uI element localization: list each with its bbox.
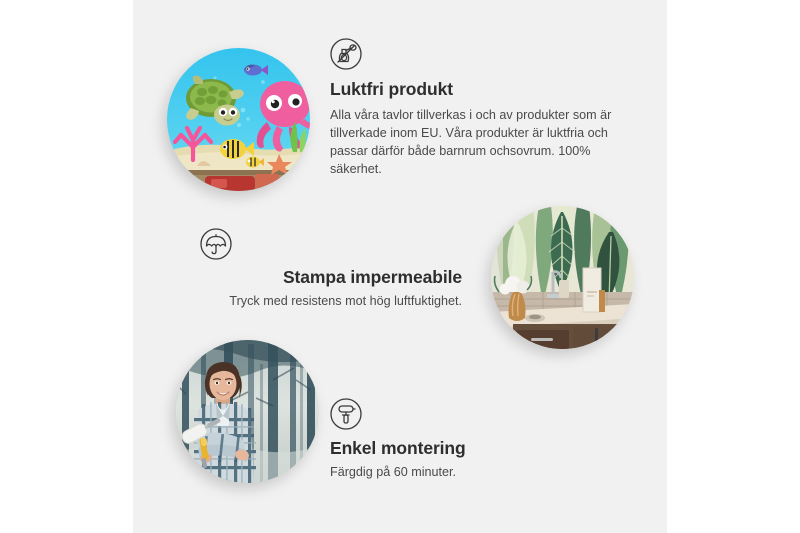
feature-title: Luktfri produkt <box>330 79 630 101</box>
feature-block-odorless: Luktfri produkt Alla våra tavlor tillver… <box>330 38 630 178</box>
feature-title: Enkel montering <box>330 438 590 460</box>
feature-body: Tryck med resistens mot hög luftfuktighe… <box>200 293 462 311</box>
photo-bathroom-tropical <box>491 206 634 349</box>
photo-painter-forest <box>176 340 319 483</box>
feature-title: Stampa impermeabile <box>200 267 462 289</box>
feature-block-easy-install: Enkel montering Färgdig på 60 minuter. <box>330 398 590 482</box>
paint-roller-icon <box>330 398 590 430</box>
photo-underwater-mural <box>167 48 310 191</box>
no-spray-bottle-icon <box>330 38 630 70</box>
umbrella-icon <box>200 228 462 260</box>
feature-body: Alla våra tavlor tillverkas i och av pro… <box>330 107 622 179</box>
infographic-page: Luktfri produkt Alla våra tavlor tillver… <box>0 0 800 533</box>
feature-block-waterproof: Stampa impermeabile Tryck med resistens … <box>200 228 462 311</box>
feature-body: Färgdig på 60 minuter. <box>330 464 590 482</box>
